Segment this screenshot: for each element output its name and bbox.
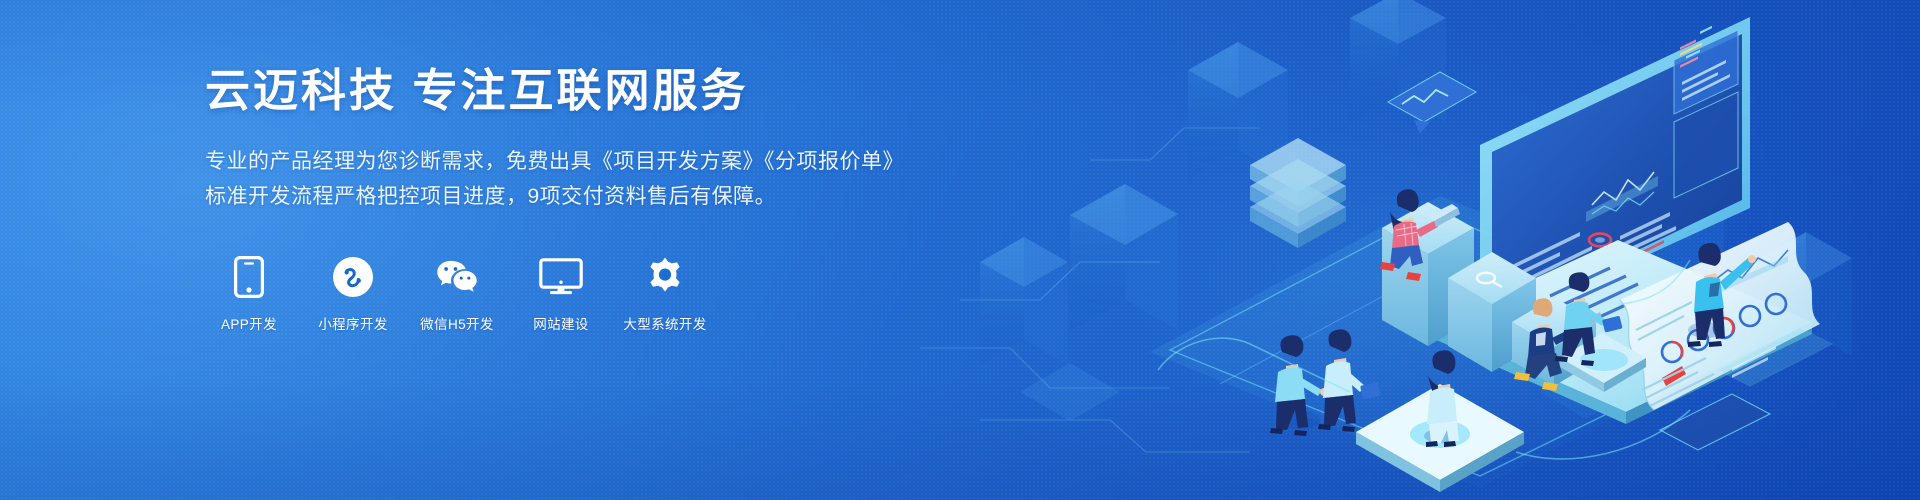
connector-paths	[1158, 260, 1690, 459]
background-city-blocks	[980, 0, 1852, 457]
two-people-talking	[1270, 329, 1381, 436]
service-item-mini-program[interactable]: 小程序开发	[314, 255, 392, 333]
smartphone-platform	[1432, 240, 1816, 424]
data-report-sheet	[1620, 222, 1820, 410]
step-blocks	[1382, 202, 1646, 392]
mobile-phone-icon	[227, 255, 271, 299]
service-item-app[interactable]: APP开发	[210, 255, 288, 333]
service-icon-list: APP开发 小程序开发	[210, 255, 905, 333]
person-on-step-with-briefcase	[1555, 272, 1623, 366]
dashboard-screen	[1480, 0, 1750, 332]
glow-floor-plate	[1150, 196, 1780, 488]
magnifier-icon	[1477, 273, 1502, 287]
person-sitting-with-laptop	[1514, 298, 1602, 391]
dashboard-text-lines	[1506, 212, 1676, 292]
page-title: 云迈科技 专注互联网服务	[205, 66, 905, 116]
person-pointing-at-screen	[1688, 243, 1756, 347]
service-label-app: APP开发	[221, 313, 277, 333]
mini-program-icon	[331, 255, 375, 299]
floating-ui-card	[1718, 328, 1832, 386]
service-item-large-system[interactable]: 大型系统开发	[626, 255, 704, 333]
dashboard-donut	[1589, 234, 1611, 247]
service-item-website[interactable]: 网站建设	[522, 255, 600, 333]
gear-icon	[643, 255, 687, 299]
banner-content: 云迈科技 专注互联网服务 专业的产品经理为您诊断需求，免费出具《项目开发方案》《…	[205, 66, 905, 333]
isometric-tech-illustration	[920, 0, 1920, 500]
monitor-icon	[539, 255, 583, 299]
tablet-platform	[1356, 384, 1524, 492]
sheet-gauges	[1662, 294, 1786, 362]
phone-text-lines	[1550, 268, 1638, 326]
service-label-website: 网站建设	[533, 313, 589, 333]
subtitle-line-1: 专业的产品经理为您诊断需求，免费出具《项目开发方案》《分项报价单》	[205, 145, 905, 180]
hero-banner: 云迈科技 专注互联网服务 专业的产品经理为您诊断需求，免费出具《项目开发方案》《…	[0, 0, 1920, 500]
server-stack	[1250, 138, 1346, 248]
sheet-text-lines	[1636, 302, 1714, 406]
dashboard-accent-lines	[1506, 240, 1664, 297]
code-window	[1660, 26, 1770, 450]
chart-bubble	[1388, 72, 1476, 134]
dashboard-side-panels	[1674, 0, 1738, 198]
service-label-large-system: 大型系统开发	[623, 313, 706, 333]
subtitle-line-2: 标准开发流程严格把控项目进度，9项交付资料售后有保障。	[205, 180, 905, 215]
wechat-icon	[435, 255, 479, 299]
background-glow-right	[980, 30, 1880, 500]
service-item-wechat[interactable]: 微信H5开发	[418, 255, 496, 333]
service-label-wechat-h5: 微信H5开发	[420, 313, 494, 333]
banner-subtitle: 专业的产品经理为您诊断需求，免费出具《项目开发方案》《分项报价单》 标准开发流程…	[205, 145, 905, 214]
person-on-tablet-platform	[1424, 350, 1459, 447]
sheet-line-chart	[1712, 250, 1788, 282]
circuit-lines	[920, 128, 1260, 452]
service-label-mini-program: 小程序开发	[318, 313, 388, 333]
dashboard-line-chart	[1592, 172, 1654, 214]
person-sitting-on-tall-block	[1380, 189, 1460, 281]
